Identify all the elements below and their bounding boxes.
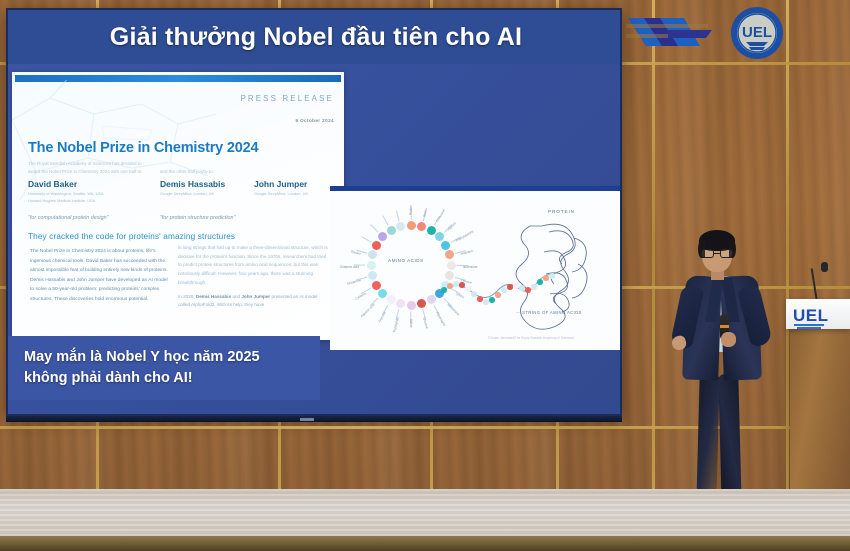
p2-name-jumper: John Jumper [241, 294, 270, 299]
laureate-affiliation: University of Washington, Seattle, WA, U… [28, 191, 148, 205]
screen-bezel [6, 416, 622, 422]
amino-acid-chain-dot [447, 283, 453, 289]
podium-logo-bar [797, 327, 821, 329]
amino-acid-chain-dot [453, 281, 459, 287]
podium-microphone-icon [821, 262, 828, 272]
podium-body [790, 328, 850, 506]
p2-mid: and [231, 294, 241, 299]
svg-text:UEL: UEL [742, 24, 772, 41]
amino-acid-chain-dot [543, 275, 549, 281]
press-release-body-col2: in long strings that fold up to make a t… [178, 244, 330, 310]
lede-col1: The Royal Swedish Academy of Sciences ha… [28, 160, 152, 177]
laureate-name: David Baker [28, 179, 77, 189]
laureate-citation: "for protein structure prediction" [160, 215, 235, 221]
laureate-name: Demis Hassabis [160, 179, 225, 189]
microphone-band [720, 325, 729, 328]
podium-front-panel: UEL [786, 299, 850, 329]
stage-front-edge [0, 536, 850, 551]
amino-acid-chain-dot [471, 291, 477, 297]
amino-acid-chain-dot [519, 285, 525, 291]
presentation-scene: UEL Giải thưởng Nobel đầu tiên cho AI [0, 0, 850, 551]
p2-name-hassabis: Demis Hassabis [196, 294, 231, 299]
amino-acid-chain-dot [507, 284, 513, 290]
glasses-lens-right [720, 249, 733, 258]
press-release-document: PRESS RELEASE 9 October 2024 The Nobel P… [12, 72, 344, 340]
amino-acid-chain-dot [465, 286, 471, 292]
press-release-body-col1: The Nobel Prize in Chemistry 2024 is abo… [30, 247, 168, 304]
slide-title-band: Giải thưởng Nobel đầu tiên cho AI [8, 10, 622, 64]
amino-acid-chain-dot [549, 273, 555, 279]
press-release-subhead: They cracked the code for proteins' amaz… [28, 232, 235, 241]
podium-uel-logo-text: UEL [793, 306, 829, 326]
slide-title-text: Giải thưởng Nobel đầu tiên cho AI [110, 23, 522, 52]
amino-acid-chain-dot [483, 299, 489, 305]
press-release-date: 9 October 2024 [295, 118, 334, 123]
presenter-hand-right [721, 332, 736, 347]
press-release-label: PRESS RELEASE [240, 94, 334, 103]
caption-line-2: không phải dành cho AI! [24, 368, 320, 389]
laureate-citation: "for computational protein design" [28, 215, 109, 221]
glasses-lens-left [701, 249, 714, 258]
amino-acid-chain-dot [537, 279, 543, 285]
presenter-glasses-icon [701, 249, 733, 258]
laureate-name: John Jumper [254, 179, 307, 189]
amino-acid-chain-dot [525, 287, 531, 293]
screen-indicator-led [300, 418, 314, 421]
slide-caption-box: May mắn là Nobel Y học năm 2025 không ph… [8, 336, 320, 400]
caption-line-1: May mắn là Nobel Y học năm 2025 [24, 347, 320, 368]
vnu-wing-logo [622, 8, 718, 56]
podium-logo-bar [794, 324, 824, 326]
amino-acid-string-dots [330, 186, 622, 350]
amino-acid-chain-dot [513, 283, 519, 289]
press-release-lede: The Royal Swedish Academy of Sciences ha… [28, 160, 334, 177]
lede-col2: and the other half jointly to [160, 168, 213, 176]
body-col2-paragraph2: In 2020, Demis Hassabis and John Jumper … [178, 293, 330, 310]
press-release-headline: The Nobel Prize in Chemistry 2024 [28, 140, 258, 156]
amino-acid-chain-dot [459, 282, 465, 288]
wall-gold-trim [786, 0, 789, 500]
amino-acid-chain-dot [441, 287, 447, 293]
amino-acid-chain-dot [531, 284, 537, 290]
projection-screen: Giải thưởng Nobel đầu tiên cho AI PRESS … [6, 8, 622, 416]
uel-seal-logo: UEL [730, 6, 784, 60]
wall-gold-trim [652, 0, 655, 500]
laureate-affiliation: Google DeepMind, London, UK [160, 191, 260, 198]
amino-acid-chain-dot [477, 296, 483, 302]
amino-acid-chain-dot [495, 292, 501, 298]
amino-acid-chain-dot [501, 287, 507, 293]
amino-acid-chain-dot [489, 297, 495, 303]
body-col2-paragraph1: in long strings that fold up to make a t… [178, 245, 328, 285]
protein-diagram-panel: ProlineSerineThreonineAlaninePhenylalani… [330, 186, 622, 350]
p2-pre: In 2020, [178, 294, 196, 299]
